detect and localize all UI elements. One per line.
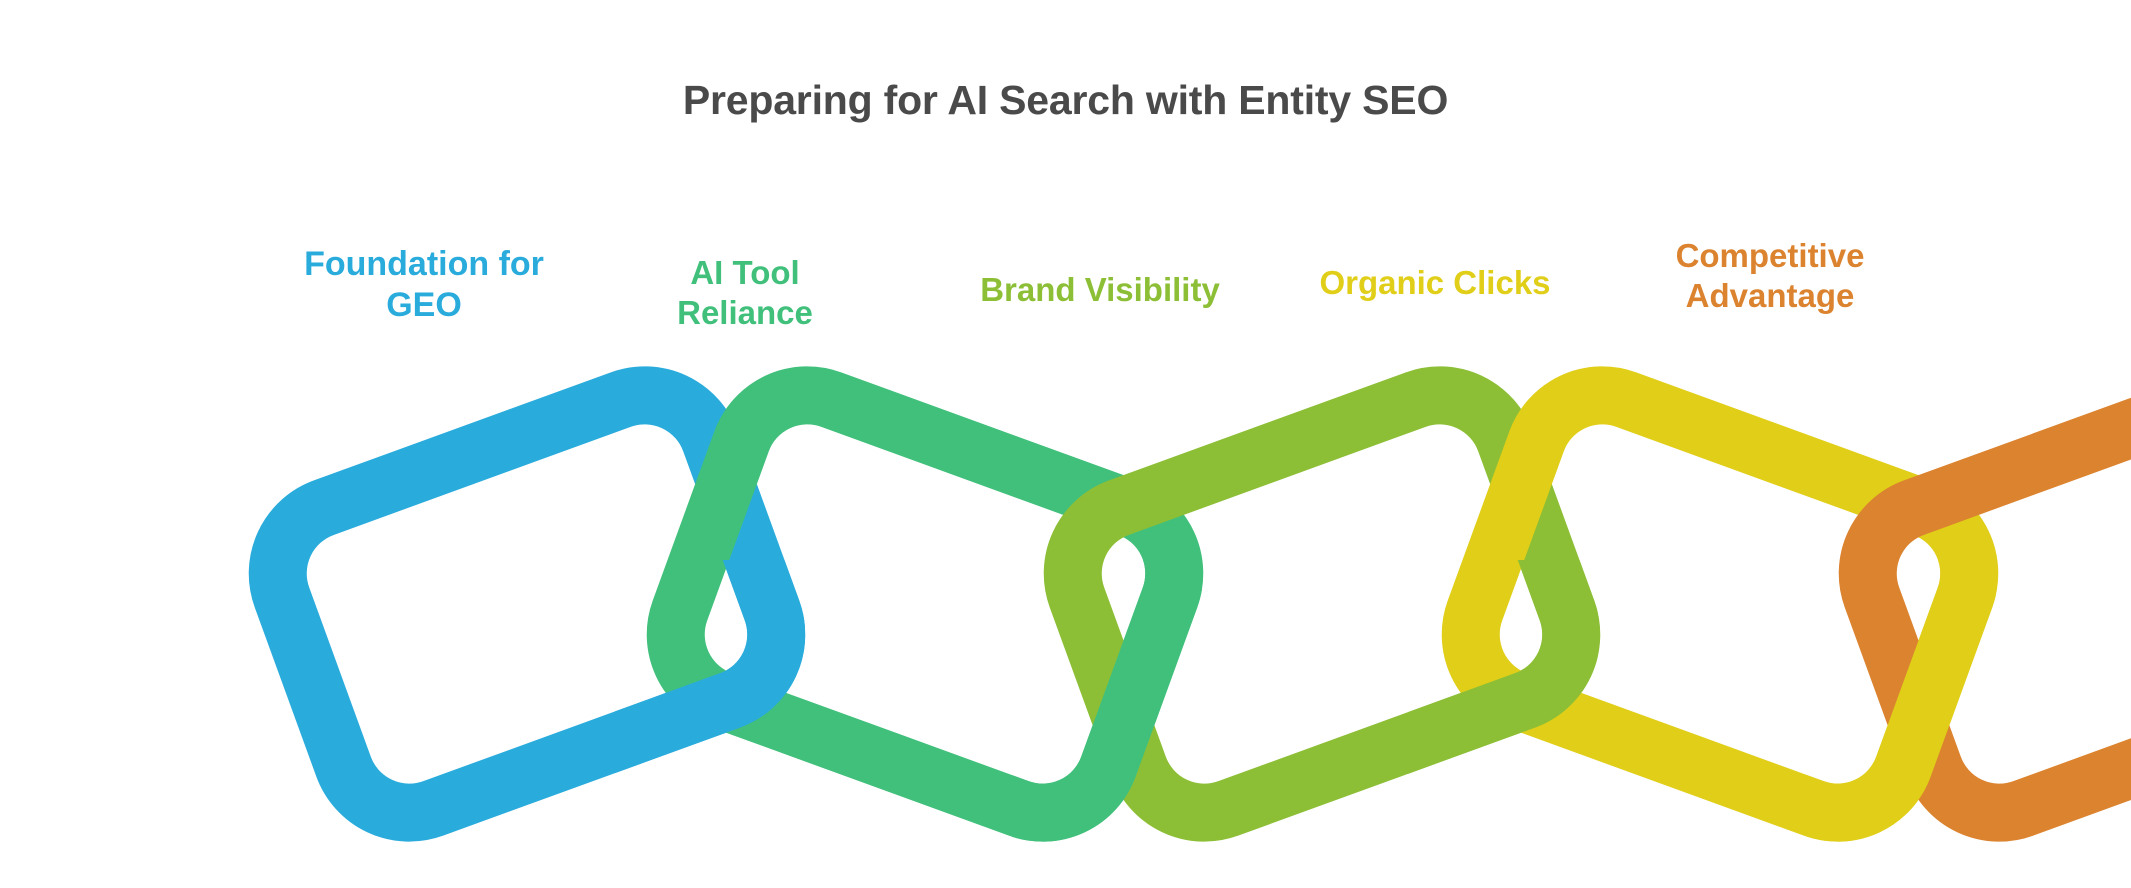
chain-diagram (0, 0, 2131, 888)
infographic-page: Preparing for AI Search with Entity SEO … (0, 0, 2131, 888)
chain-svg (0, 0, 2131, 888)
